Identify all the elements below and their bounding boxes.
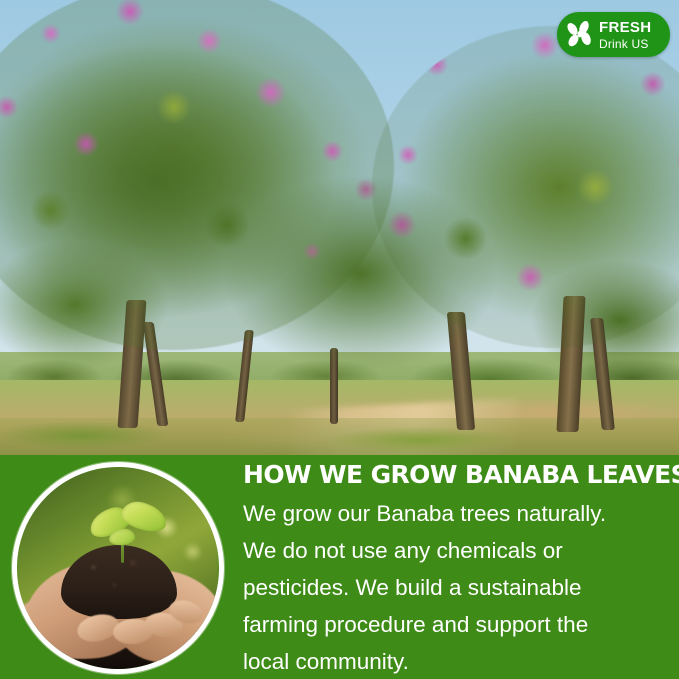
- description-line: farming procedure and support the: [243, 606, 667, 643]
- description-text: We grow our Banaba trees naturally. We d…: [243, 495, 667, 679]
- description-line: We grow our Banaba trees naturally.: [243, 495, 667, 532]
- hands-holding-seedling-photo: [12, 462, 224, 674]
- page-title: HOW WE GROW BANABA LEAVES: [243, 461, 667, 489]
- banaba-grove-photo: [0, 0, 679, 462]
- description-line: We do not use any chemicals or: [243, 532, 667, 569]
- logo-wordmark: FRESH Drink US: [599, 20, 651, 50]
- info-panel-content: HOW WE GROW BANABA LEAVES We grow our Ba…: [243, 461, 667, 679]
- leaf-cluster-icon: [563, 18, 597, 52]
- logo-line-drink-us: Drink US: [599, 38, 651, 50]
- description-line: pesticides. We build a sustainable: [243, 569, 667, 606]
- brand-logo[interactable]: FRESH Drink US: [557, 12, 670, 57]
- description-line: local community.: [243, 643, 667, 679]
- logo-line-fresh: FRESH: [599, 20, 651, 35]
- promo-graphic: FRESH Drink US HOW WE GROW BANABA LEAVES…: [0, 0, 679, 679]
